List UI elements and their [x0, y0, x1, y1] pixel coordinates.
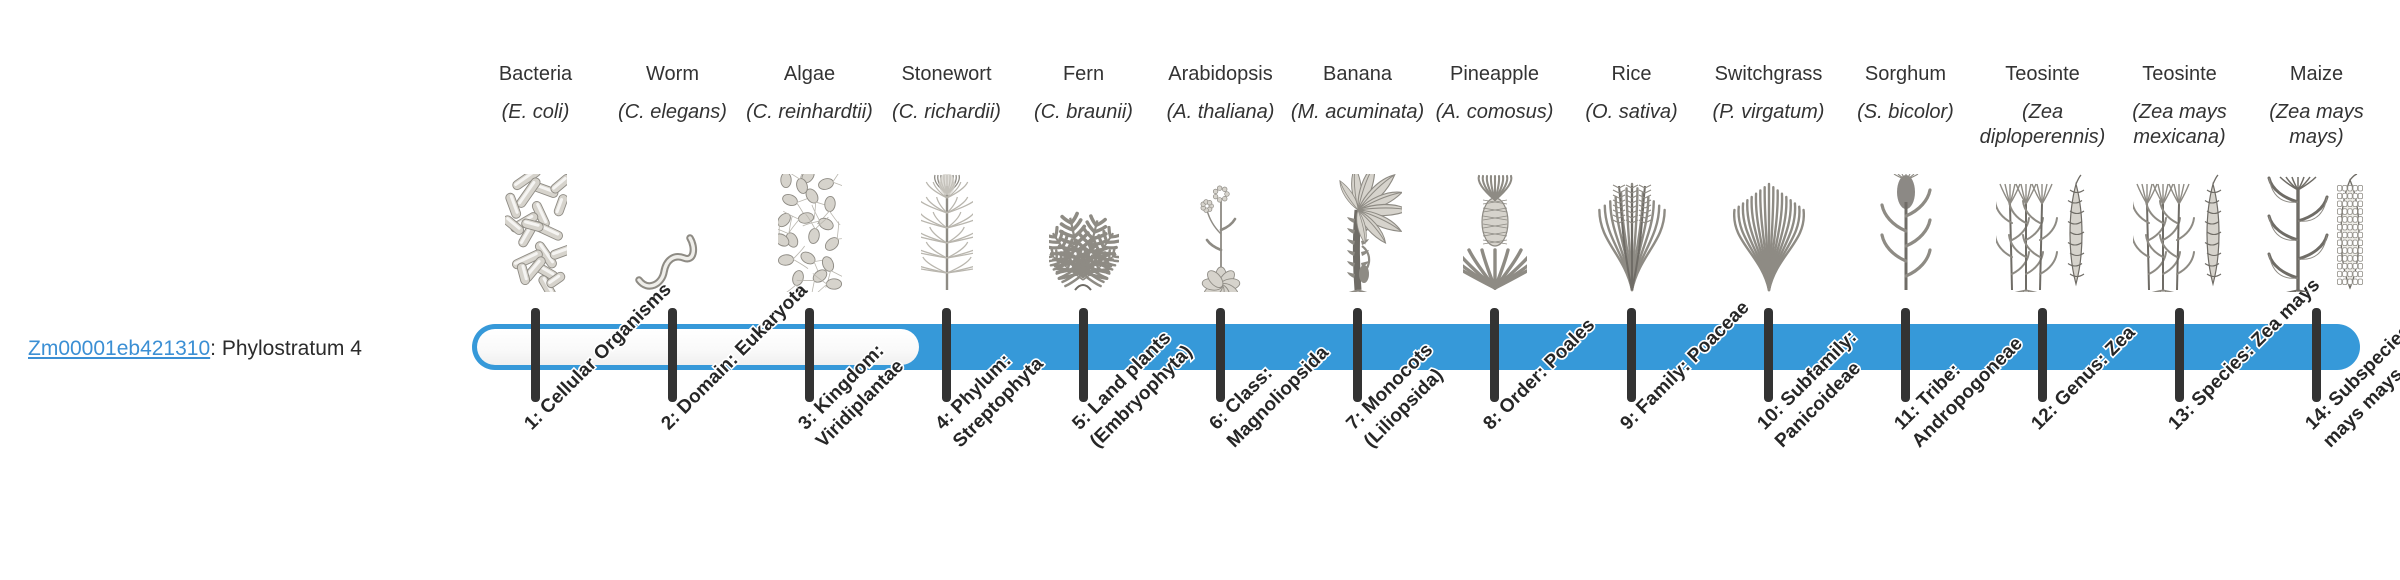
- species-scientific-name: (A. thaliana): [1148, 100, 1293, 125]
- phylostratum-value: Phylostratum 4: [222, 337, 362, 360]
- species-columns: Bacteria(E. coli)1: Cellular OrganismsWo…: [455, 0, 2375, 580]
- fern-frond-icon: [1015, 174, 1152, 292]
- stratum-tick[interactable]: [2038, 308, 2047, 402]
- species-scientific-name: (Zea diploperennis): [1970, 100, 2115, 150]
- bacteria-rods-icon: [467, 174, 604, 292]
- stratum-tick[interactable]: [1764, 308, 1773, 402]
- switchgrass-clump-icon: [1700, 174, 1837, 292]
- species-column: Worm(C. elegans)2: Domain: Eukaryota: [604, 0, 741, 580]
- banana-palm-icon: [1289, 174, 1426, 292]
- species-common-name: Bacteria: [467, 62, 604, 86]
- species-common-name: Maize: [2248, 62, 2385, 86]
- species-common-name: Switchgrass: [1700, 62, 1837, 86]
- species-scientific-name: (E. coli): [463, 100, 608, 125]
- species-common-name: Arabidopsis: [1152, 62, 1289, 86]
- stratum-tick[interactable]: [668, 308, 677, 402]
- stratum-tick[interactable]: [1901, 308, 1910, 402]
- species-column: Rice(O. sativa)9: Family: Poaceae: [1563, 0, 1700, 580]
- species-scientific-name: (A. comosus): [1422, 100, 1567, 125]
- species-common-name: Stonewort: [878, 62, 1015, 86]
- species-common-name: Rice: [1563, 62, 1700, 86]
- phylostratum-figure: Zm00001eb421310: Phylostratum 4 Bacteria…: [0, 0, 2400, 580]
- stratum-tick[interactable]: [1216, 308, 1225, 402]
- stratum-tick[interactable]: [942, 308, 951, 402]
- species-common-name: Teosinte: [1974, 62, 2111, 86]
- sorghum-panicle-icon: [1837, 174, 1974, 292]
- species-scientific-name: (S. bicolor): [1833, 100, 1978, 125]
- stratum-tick[interactable]: [2312, 308, 2321, 402]
- species-common-name: Banana: [1289, 62, 1426, 86]
- green-algae-cells-icon: [741, 174, 878, 292]
- species-common-name: Algae: [741, 62, 878, 86]
- species-column: Arabidopsis(A. thaliana)6: Class: Magnol…: [1152, 0, 1289, 580]
- stratum-number: 12:: [2027, 400, 2061, 434]
- species-column: Switchgrass(P. virgatum)10: Subfamily: P…: [1700, 0, 1837, 580]
- pineapple-plant-icon: [1426, 174, 1563, 292]
- species-column: Teosinte(Zea mays mexicana)13: Species: …: [2111, 0, 2248, 580]
- stratum-number: 13:: [2164, 400, 2198, 434]
- rice-plant-icon: [1563, 174, 1700, 292]
- species-scientific-name: (C. braunii): [1011, 100, 1156, 125]
- stratum-tick[interactable]: [805, 308, 814, 402]
- species-scientific-name: (C. elegans): [600, 100, 745, 125]
- species-common-name: Sorghum: [1837, 62, 1974, 86]
- stratum-tick[interactable]: [1490, 308, 1499, 402]
- species-scientific-name: (Zea mays mays): [2244, 100, 2389, 150]
- species-scientific-name: (C. richardii): [874, 100, 1019, 125]
- teosinte-plant-ear-icon: [1974, 174, 2111, 292]
- species-scientific-name: (M. acuminata): [1285, 100, 1430, 125]
- species-common-name: Teosinte: [2111, 62, 2248, 86]
- species-column: Pineapple(A. comosus)8: Order: Poales: [1426, 0, 1563, 580]
- stratum-rank: Subspecies: Zea mays mays: [2319, 289, 2400, 452]
- species-common-name: Pineapple: [1426, 62, 1563, 86]
- species-column: Maize(Zea mays mays)14: Subspecies: Zea …: [2248, 0, 2385, 580]
- stratum-tick[interactable]: [1079, 308, 1088, 402]
- species-column: Stonewort(C. richardii)4: Phylum: Strept…: [878, 0, 1015, 580]
- gene-id-link[interactable]: Zm00001eb421310: [28, 337, 210, 360]
- species-scientific-name: (Zea mays mexicana): [2107, 100, 2252, 150]
- maize-plant-cob-icon: [2248, 174, 2385, 292]
- stratum-tick[interactable]: [1627, 308, 1636, 402]
- species-column: Teosinte(Zea diploperennis)12: Genus: Ze…: [1974, 0, 2111, 580]
- species-column: Fern(C. braunii)5: Land plants (Embryoph…: [1015, 0, 1152, 580]
- stratum-tick[interactable]: [1353, 308, 1362, 402]
- gene-label-separator: :: [210, 337, 222, 360]
- gene-phylostratum-label: Zm00001eb421310: Phylostratum 4: [28, 336, 362, 362]
- species-column: Bacteria(E. coli)1: Cellular Organisms: [467, 0, 604, 580]
- species-scientific-name: (O. sativa): [1559, 100, 1704, 125]
- stonewort-alga-icon: [878, 174, 1015, 292]
- species-column: Algae(C. reinhardtii)3: Kingdom: Viridip…: [741, 0, 878, 580]
- species-common-name: Fern: [1015, 62, 1152, 86]
- species-scientific-name: (P. virgatum): [1696, 100, 1841, 125]
- species-column: Sorghum(S. bicolor)11: Tribe: Andropogon…: [1837, 0, 1974, 580]
- stratum-tick[interactable]: [531, 308, 540, 402]
- species-scientific-name: (C. reinhardtii): [737, 100, 882, 125]
- species-column: Banana(M. acuminata)7: Monocots (Liliops…: [1289, 0, 1426, 580]
- stratum-tick[interactable]: [2175, 308, 2184, 402]
- teosinte-plant-ear-icon: [2111, 174, 2248, 292]
- arabidopsis-rosette-icon: [1152, 174, 1289, 292]
- nematode-worm-icon: [604, 174, 741, 292]
- species-common-name: Worm: [604, 62, 741, 86]
